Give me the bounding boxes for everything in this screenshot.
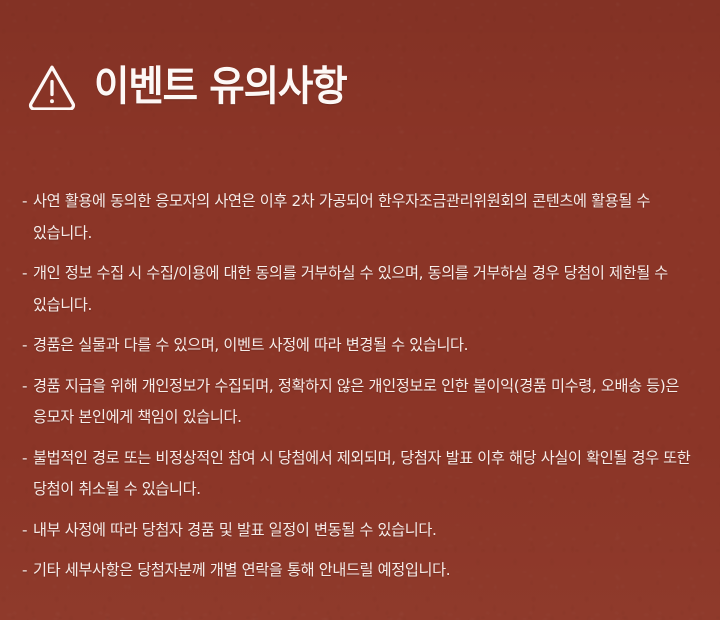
list-item-bullet: - (22, 443, 33, 475)
list-item-bullet: - (22, 555, 33, 587)
list-item: - 내부 사정에 따라 당첨자 경품 및 발표 일정이 변동될 수 있습니다. (22, 515, 704, 547)
list-item-text: 사연 활용에 동의한 응모자의 사연은 이후 2차 가공되어 한우자조금관리위원… (33, 186, 704, 249)
warning-triangle-icon (27, 63, 77, 110)
list-item-bullet: - (22, 186, 33, 218)
notice-list: - 사연 활용에 동의한 응모자의 사연은 이후 2차 가공되어 한우자조금관리… (22, 186, 704, 587)
list-item: - 개인 정보 수집 시 수집/이용에 대한 동의를 거부하실 수 있으며, 동… (22, 258, 704, 321)
list-item-text: 개인 정보 수집 시 수집/이용에 대한 동의를 거부하실 수 있으며, 동의를… (33, 258, 704, 321)
list-item: - 사연 활용에 동의한 응모자의 사연은 이후 2차 가공되어 한우자조금관리… (22, 186, 704, 249)
list-item: - 경품은 실물과 다를 수 있으며, 이벤트 사정에 따라 변경될 수 있습니… (22, 330, 704, 362)
content-layer: 이벤트 유의사항 - 사연 활용에 동의한 응모자의 사연은 이후 2차 가공되… (0, 0, 720, 620)
list-item-text: 기타 세부사항은 당첨자분께 개별 연락을 통해 안내드릴 예정입니다. (33, 555, 704, 587)
list-item-bullet: - (22, 330, 33, 362)
list-item-text: 불법적인 경로 또는 비정상적인 참여 시 당첨에서 제외되며, 당첨자 발표 … (33, 443, 704, 506)
list-item-bullet: - (22, 371, 33, 403)
list-item: - 경품 지급을 위해 개인정보가 수집되며, 정확하지 않은 개인정보로 인한… (22, 371, 704, 434)
list-item: - 불법적인 경로 또는 비정상적인 참여 시 당첨에서 제외되며, 당첨자 발… (22, 443, 704, 506)
event-notice-panel: 이벤트 유의사항 - 사연 활용에 동의한 응모자의 사연은 이후 2차 가공되… (0, 0, 720, 620)
list-item-bullet: - (22, 515, 33, 547)
list-item-text: 내부 사정에 따라 당첨자 경품 및 발표 일정이 변동될 수 있습니다. (33, 515, 704, 547)
list-item-text: 경품 지급을 위해 개인정보가 수집되며, 정확하지 않은 개인정보로 인한 불… (33, 371, 704, 434)
list-item: - 기타 세부사항은 당첨자분께 개별 연락을 통해 안내드릴 예정입니다. (22, 555, 704, 587)
list-item-bullet: - (22, 258, 33, 290)
page-title: 이벤트 유의사항 (94, 66, 347, 107)
notice-header: 이벤트 유의사항 (27, 63, 363, 110)
list-item-text: 경품은 실물과 다를 수 있으며, 이벤트 사정에 따라 변경될 수 있습니다. (33, 330, 704, 362)
